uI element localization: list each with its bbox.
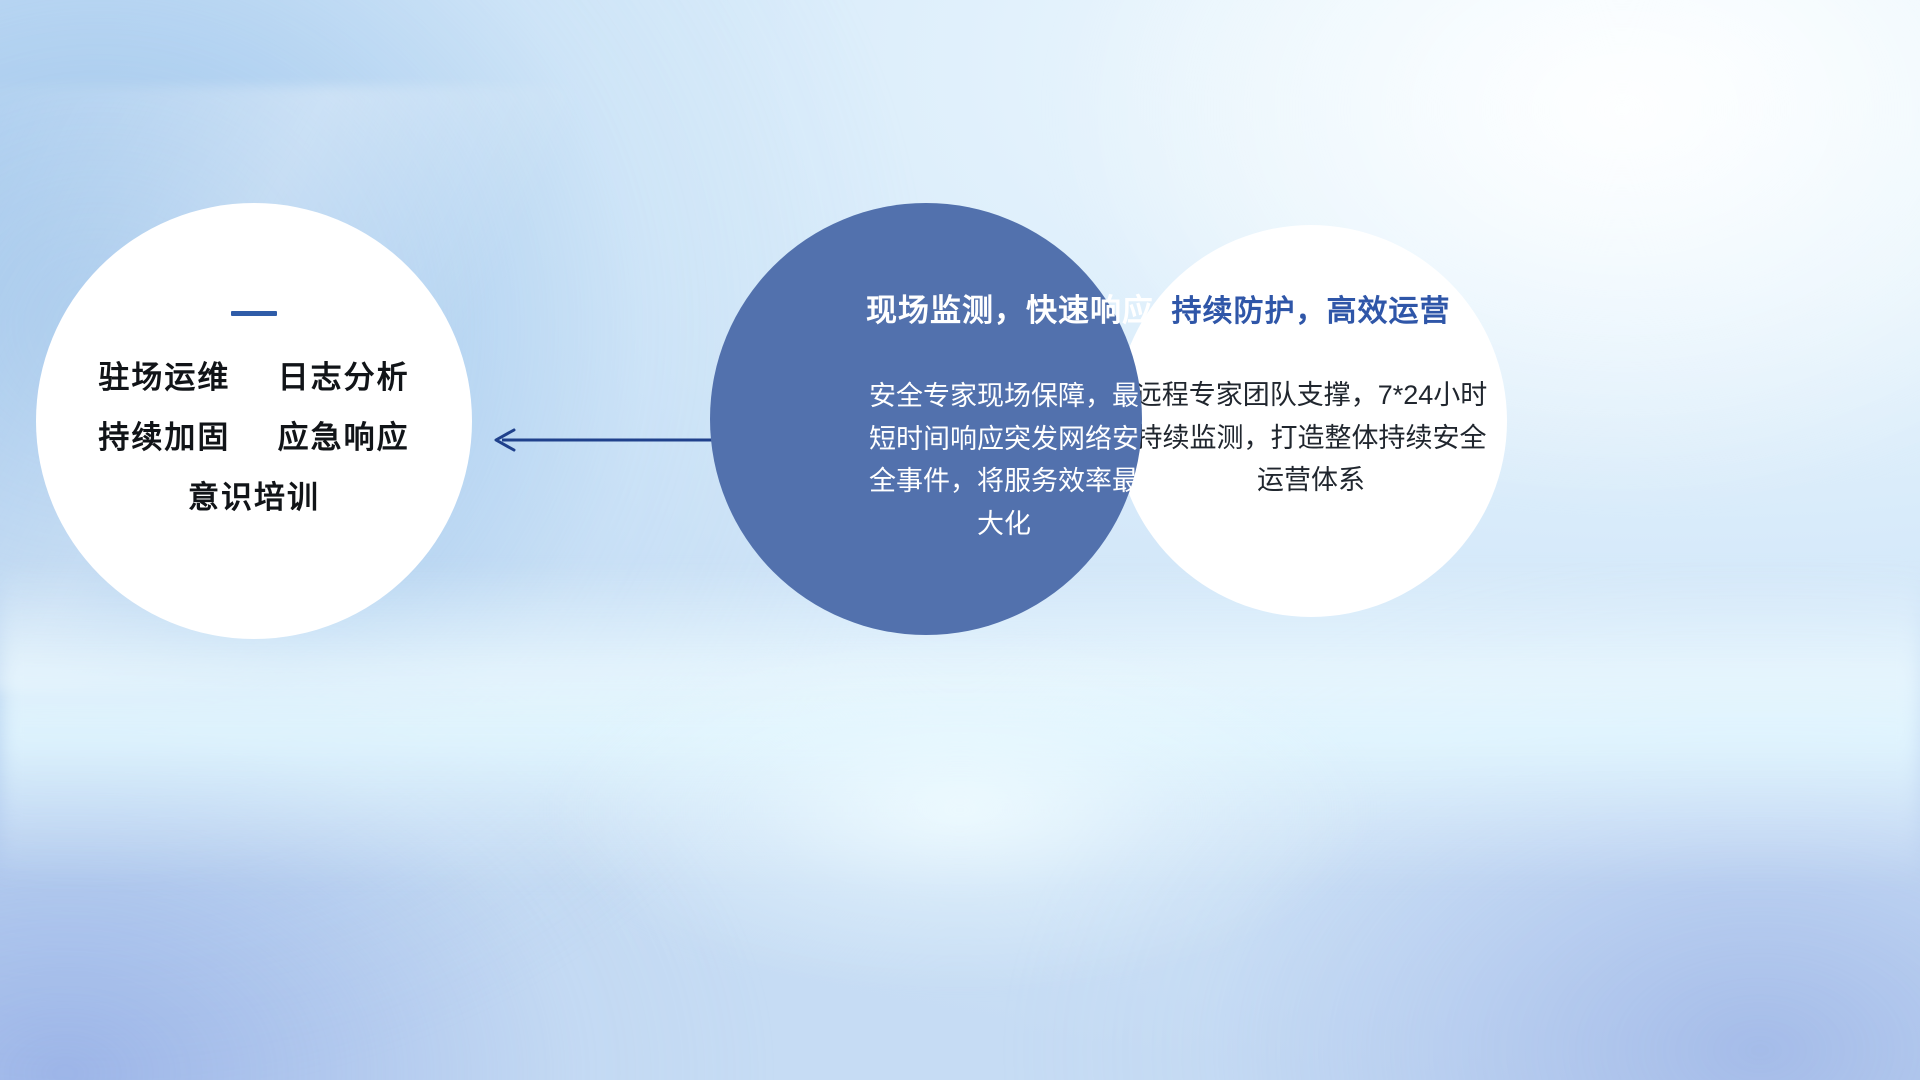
card-body-text: 安全专家现场保障，最短时间响应突发网络安全事件，将服务效率最大化	[858, 375, 1150, 546]
driving-capabilities-circle: 驻场运维 日志分析 持续加固 应急响应 意识培训	[36, 203, 472, 639]
left-pointing-arrow	[488, 418, 718, 462]
card-heading: 持续防护，高效运营	[1172, 297, 1451, 327]
capability-label: 应急响应	[278, 420, 410, 455]
background-glow-center	[538, 626, 1383, 993]
capability-label: 日志分析	[278, 360, 410, 395]
card-heading: 现场监测，快速响应	[866, 295, 1154, 326]
divider-dash-icon	[231, 311, 277, 316]
continuous-protection-circle: 持续防护，高效运营 远程专家团队支撑，7*24小时持续监测，打造整体持续安全运营…	[1115, 225, 1507, 617]
capability-label: 持续加固	[98, 420, 230, 455]
capability-row-3: 意识培训	[188, 482, 320, 513]
card-body-text: 远程专家团队支撑，7*24小时持续监测，打造整体持续安全运营体系	[1132, 374, 1490, 502]
capability-row-2: 持续加固 应急响应	[98, 422, 409, 453]
capability-label: 驻场运维	[98, 360, 230, 395]
capability-label: 意识培训	[188, 480, 320, 515]
onsite-monitoring-circle: 现场监测，快速响应 安全专家现场保障，最短时间响应突发网络安全事件，将服务效率最…	[710, 203, 1142, 635]
capability-row-1: 驻场运维 日志分析	[98, 362, 409, 393]
slide-canvas: 驻场运维 日志分析 持续加固 应急响应 意识培训 持续防护，高效运营 远程专家团…	[0, 0, 1920, 1080]
